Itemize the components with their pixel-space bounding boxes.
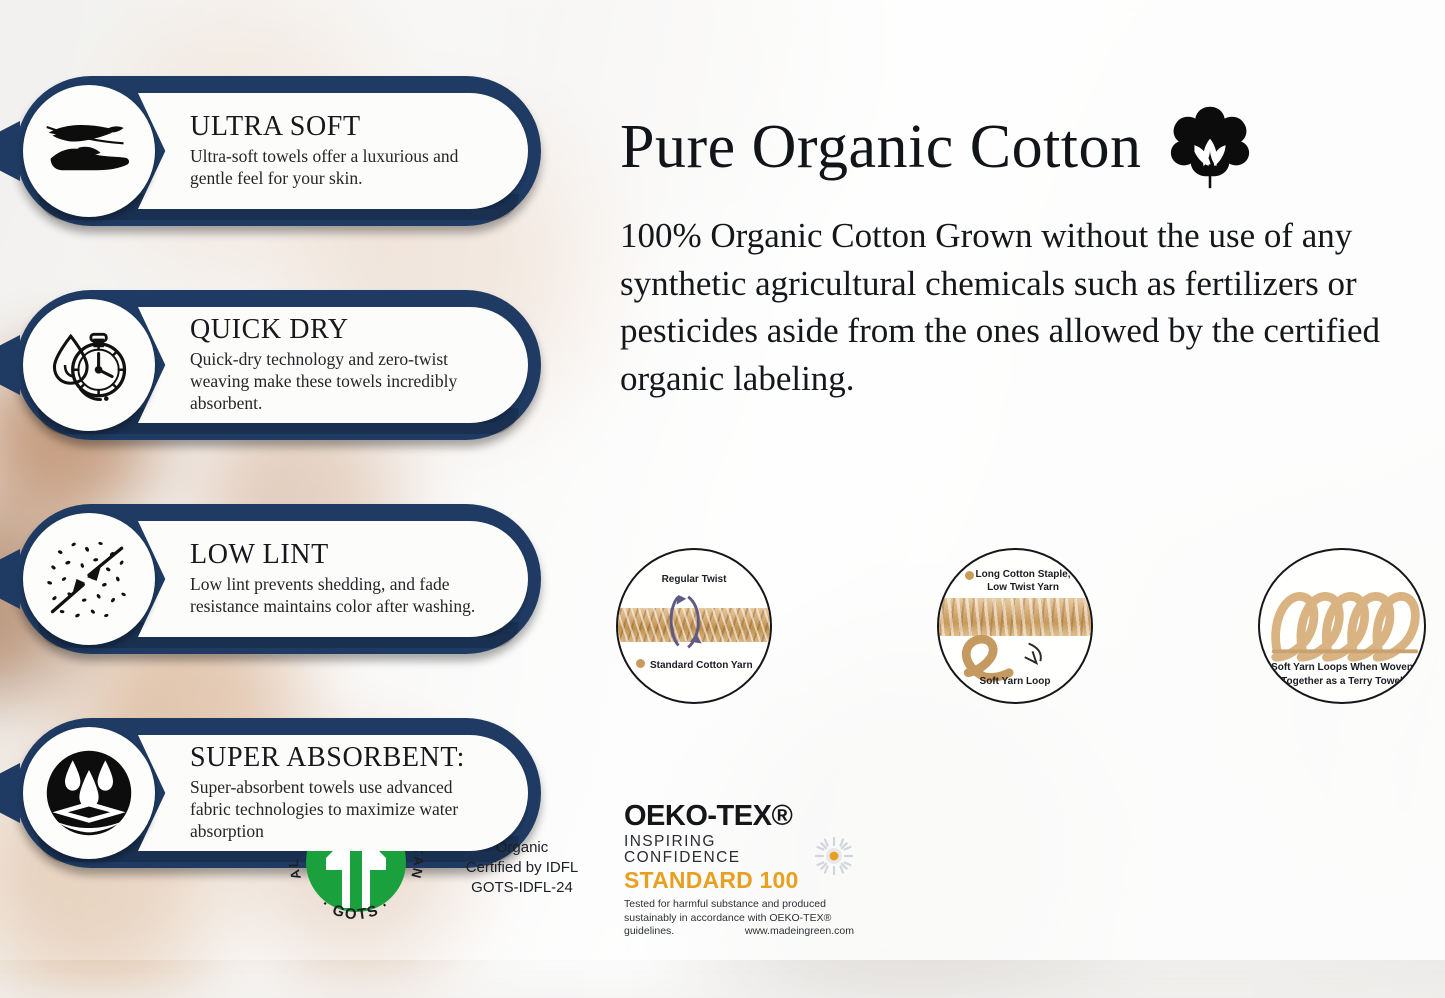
oeko-tex-standard: STANDARD 100 bbox=[624, 869, 810, 892]
badge-text-panel: QUICK DRY Quick-dry technology and zero-… bbox=[138, 307, 528, 423]
oeko-tex-titles: OEKO-TEX® INSPIRING CONFIDENCE STANDARD … bbox=[624, 802, 810, 892]
oeko-tex-header: OEKO-TEX® INSPIRING CONFIDENCE STANDARD … bbox=[624, 802, 854, 892]
yarn-diagram-regular-twist: Regular Twist Standard Cotton Yarn bbox=[616, 548, 772, 704]
cotton-boll-icon bbox=[1164, 104, 1256, 190]
headline-row: Pure Organic Cotton bbox=[620, 104, 1432, 190]
oeko-tex-website: www.madeingreen.com bbox=[745, 925, 854, 939]
badge-text-panel: SUPER ABSORBENT: Super-absorbent towels … bbox=[138, 735, 528, 851]
feature-badge-low-lint: LOW LINT Low lint prevents shedding, and… bbox=[8, 504, 568, 654]
badge-title: QUICK DRY bbox=[190, 315, 494, 344]
yarn-bottom-label: Soft Yarn Loop bbox=[939, 676, 1091, 688]
badge-icon-disc bbox=[23, 299, 155, 431]
hand-feather-icon bbox=[41, 103, 137, 199]
oeko-tex-fine-print-last: guidelines. bbox=[624, 925, 674, 939]
twist-arrow-icon bbox=[618, 550, 770, 702]
gots-caption-line3: GOTS-IDFL-24 bbox=[442, 878, 602, 898]
yarn-bottom-label: Standard Cotton Yarn bbox=[632, 660, 770, 672]
badge-description: Quick-dry technology and zero-twist weav… bbox=[190, 348, 494, 415]
page-title: Pure Organic Cotton bbox=[620, 116, 1142, 178]
badge-title: ULTRA SOFT bbox=[190, 112, 494, 141]
yarn-bottom-label-line2: Together as a Terry Towel bbox=[1260, 676, 1424, 688]
yarn-diagram-row: Regular Twist Standard Cotton Yarn Long … bbox=[616, 548, 1426, 704]
badge-description: Super-absorbent towels use advanced fabr… bbox=[190, 776, 494, 843]
badge-icon-disc bbox=[23, 727, 155, 859]
gots-caption-line2: Certified by IDFL bbox=[442, 858, 602, 878]
feature-badge-list: ULTRA SOFT Ultra-soft towels offer a lux… bbox=[8, 76, 568, 932]
badge-title: SUPER ABSORBENT: bbox=[190, 743, 494, 772]
badge-text-panel: ULTRA SOFT Ultra-soft towels offer a lux… bbox=[138, 93, 528, 209]
yarn-diagram-terry-loops: Soft Yarn Loops When Woven Together as a… bbox=[1258, 548, 1426, 704]
water-drop-stopwatch-icon bbox=[41, 317, 137, 413]
badge-icon-disc bbox=[23, 85, 155, 217]
lint-particles-arrows-icon bbox=[41, 531, 137, 627]
oeko-tex-certification: OEKO-TEX® INSPIRING CONFIDENCE STANDARD … bbox=[624, 802, 854, 939]
oeko-tex-brand: OEKO-TEX® bbox=[624, 802, 810, 831]
oeko-tex-fine-print-text: Tested for harmful substance and produce… bbox=[624, 898, 854, 925]
description-paragraph: 100% Organic Cotton Grown without the us… bbox=[620, 212, 1420, 402]
oeko-tex-mark-icon bbox=[814, 836, 854, 876]
water-drops-fabric-layers-icon bbox=[41, 745, 137, 841]
yarn-bottom-label-line1: Soft Yarn Loops When Woven bbox=[1260, 662, 1424, 674]
badge-title: LOW LINT bbox=[190, 540, 494, 569]
feature-badge-super-absorbent: SUPER ABSORBENT: Super-absorbent towels … bbox=[8, 718, 568, 868]
badge-description: Ultra-soft towels offer a luxurious and … bbox=[190, 145, 494, 190]
yarn-diagram-low-twist: Long Cotton Staple, Low Twist Yarn Soft … bbox=[937, 548, 1093, 704]
oeko-tex-fine-print: Tested for harmful substance and produce… bbox=[624, 898, 854, 939]
badge-icon-disc bbox=[23, 513, 155, 645]
badge-text-panel: LOW LINT Low lint prevents shedding, and… bbox=[138, 521, 528, 637]
badge-description: Low lint prevents shedding, and fade res… bbox=[190, 573, 494, 618]
feature-badge-quick-dry: QUICK DRY Quick-dry technology and zero-… bbox=[8, 290, 568, 440]
oeko-tex-tagline: INSPIRING CONFIDENCE bbox=[624, 834, 810, 865]
feature-badge-ultra-soft: ULTRA SOFT Ultra-soft towels offer a lux… bbox=[8, 76, 568, 226]
